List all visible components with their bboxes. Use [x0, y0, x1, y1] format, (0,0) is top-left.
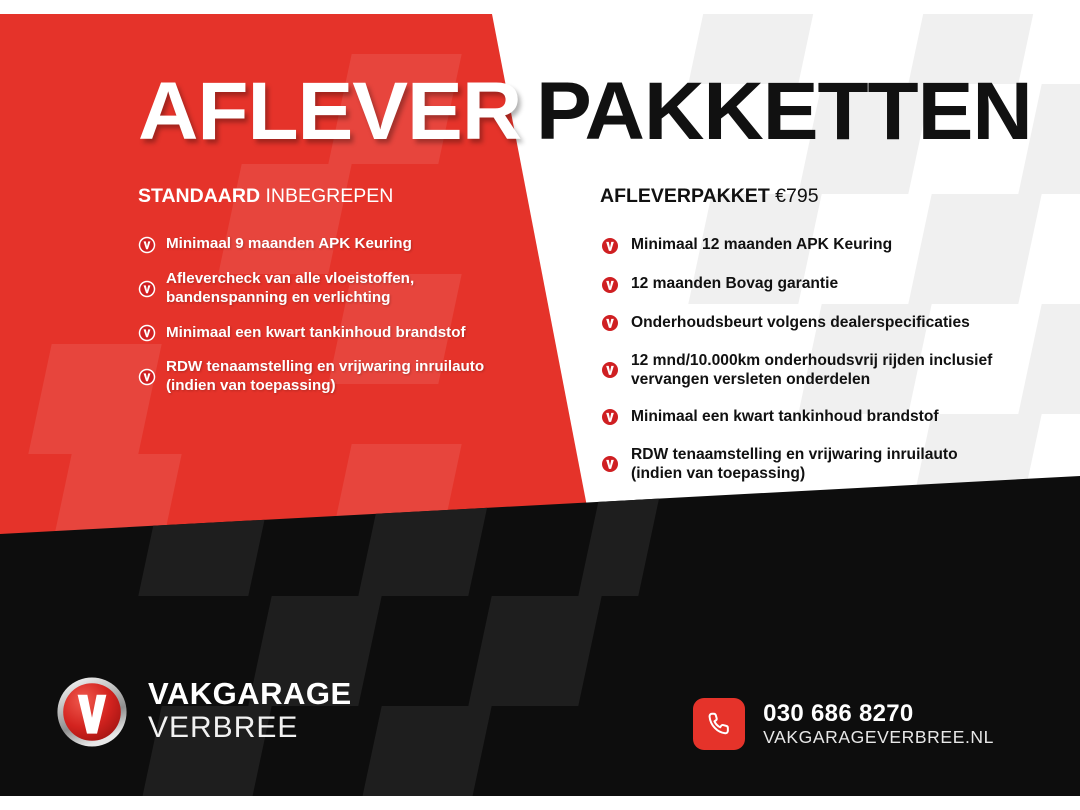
standaard-package-column: STANDAARD INBEGREPEN Minimaal 9 maanden … [138, 186, 518, 411]
list-item: 12 maanden Bovag garantie [600, 274, 1000, 295]
list-item-label: Minimaal een kwart tankinhoud brandstof [631, 407, 939, 426]
list-item-label: 12 mnd/10.000km onderhoudsvrij rijden in… [631, 351, 1000, 389]
contact-block[interactable]: 030 686 8270 VAKGARAGEVERBREE.NL [693, 698, 994, 750]
list-item-label: RDW tenaamstelling en vrijwaring inruila… [166, 358, 518, 395]
check-v-icon [600, 275, 620, 295]
check-v-icon [600, 407, 620, 427]
standaard-feature-list: Minimaal 9 maanden APK Keuring Afleverch… [138, 235, 518, 395]
brand-name-top: VAKGARAGE [148, 676, 352, 711]
check-v-icon [600, 313, 620, 333]
afleverpakket-feature-list: Minimaal 12 maanden APK Keuring 12 maand… [600, 235, 1000, 483]
check-v-icon [138, 324, 156, 342]
list-item-label: Aflevercheck van alle vloeistoffen, band… [166, 270, 518, 307]
list-item: Minimaal een kwart tankinhoud brandstof [138, 324, 518, 343]
afleverpakket-heading-strong: AFLEVERPAKKET [600, 185, 770, 207]
list-item-label: RDW tenaamstelling en vrijwaring inruila… [631, 445, 1000, 483]
check-v-icon [138, 368, 156, 386]
list-item: Minimaal 9 maanden APK Keuring [138, 235, 518, 254]
list-item-label: Onderhoudsbeurt volgens dealerspecificat… [631, 313, 970, 332]
list-item-label: 12 maanden Bovag garantie [631, 274, 838, 293]
standaard-heading-light: INBEGREPEN [265, 185, 393, 207]
list-item: Minimaal een kwart tankinhoud brandstof [600, 407, 1000, 427]
contact-details: 030 686 8270 VAKGARAGEVERBREE.NL [763, 700, 994, 749]
vakgarage-v-logo-icon [56, 676, 128, 748]
brand-logo: VAKGARAGE VERBREE [56, 676, 352, 748]
standaard-heading: STANDAARD INBEGREPEN [138, 186, 518, 207]
list-item: Onderhoudsbeurt volgens dealerspecificat… [600, 313, 1000, 333]
list-item-label: Minimaal 9 maanden APK Keuring [166, 235, 412, 254]
list-item: Minimaal 12 maanden APK Keuring [600, 235, 1000, 256]
afleverpakket-price: €795 [775, 185, 818, 207]
list-item-label: Minimaal 12 maanden APK Keuring [631, 235, 892, 254]
brand-name-bottom: VERBREE [148, 711, 298, 744]
list-item: 12 mnd/10.000km onderhoudsvrij rijden in… [600, 351, 1000, 389]
phone-icon[interactable] [693, 698, 745, 750]
list-item-label: Minimaal een kwart tankinhoud brandstof [166, 324, 466, 343]
check-v-icon [138, 280, 156, 298]
list-item: Aflevercheck van alle vloeistoffen, band… [138, 270, 518, 307]
check-v-icon [600, 360, 620, 380]
afleverpakket-column: AFLEVERPAKKET €795 Minimaal 12 maanden A… [600, 186, 1000, 502]
brand-name: VAKGARAGE VERBREE [148, 678, 352, 745]
website-url[interactable]: VAKGARAGEVERBREE.NL [763, 727, 994, 747]
check-v-icon [600, 454, 620, 474]
poster-canvas: AFLEVER PAKKETTEN STANDAARD INBEGREPEN M… [0, 0, 1080, 810]
afleverpakket-heading: AFLEVERPAKKET €795 [600, 186, 1000, 207]
list-item: RDW tenaamstelling en vrijwaring inruila… [600, 445, 1000, 483]
check-v-icon [138, 236, 156, 254]
standaard-heading-strong: STANDAARD [138, 185, 260, 207]
check-v-icon [600, 236, 620, 256]
phone-number[interactable]: 030 686 8270 [763, 700, 913, 727]
list-item: RDW tenaamstelling en vrijwaring inruila… [138, 358, 518, 395]
